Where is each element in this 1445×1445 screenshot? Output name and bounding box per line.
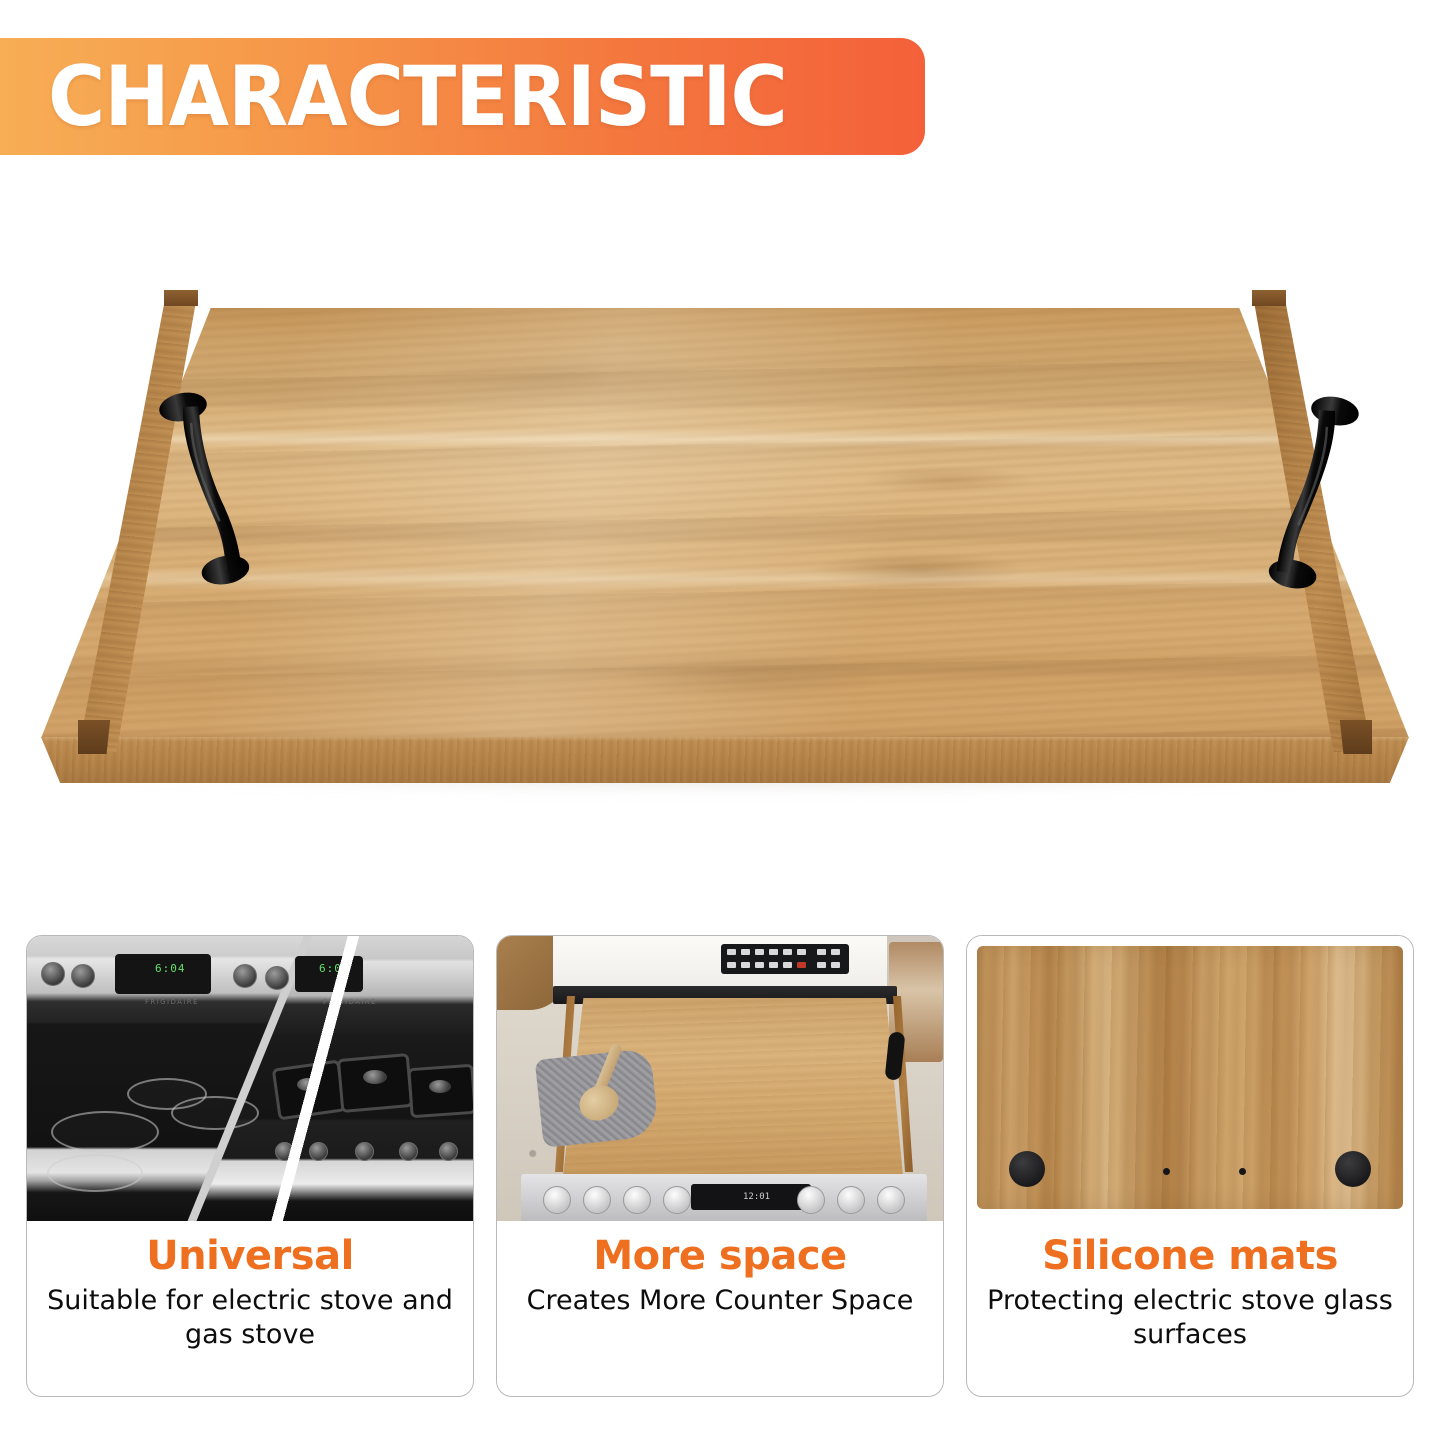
feature-card-more-space: 12:01 More space Creates More Counter Sp… <box>496 935 944 1397</box>
kitchen-stove-knob-4 <box>663 1186 691 1214</box>
tray-front-edge <box>41 737 1409 783</box>
electric-and-gas-stove-split-photo: 6:04 6:04 FRIGIDAIRE FRIGIDAIRE <box>27 936 473 1221</box>
hood-control-panel <box>721 944 849 974</box>
tray-underside-silicone-mats-photo <box>967 936 1413 1221</box>
kitchen-stove-knob-2 <box>583 1186 611 1214</box>
tray-underside-wood <box>977 946 1403 1209</box>
stove-clock-display: 12:01 <box>691 1184 811 1210</box>
feature-cards-row: 6:04 6:04 FRIGIDAIRE FRIGIDAIRE <box>0 930 1445 1410</box>
card-description-silicone-mats: Protecting electric stove glass surfaces <box>979 1284 1401 1352</box>
kitchen-scene: 12:01 <box>497 936 943 1221</box>
silicone-dot-center-left <box>1163 1168 1170 1175</box>
right-rail-top-cap <box>1252 290 1286 306</box>
stove-clock-value: 12:01 <box>743 1192 770 1202</box>
tray-on-stove-kitchen-photo: 12:01 <box>497 936 943 1221</box>
feature-card-silicone-mats: Silicone mats Protecting electric stove … <box>966 935 1414 1397</box>
kitchen-stove-knob-3 <box>623 1186 651 1214</box>
left-rail-top-cap <box>164 290 198 306</box>
card-title-more-space: More space <box>509 1235 931 1278</box>
feature-card-universal: 6:04 6:04 FRIGIDAIRE FRIGIDAIRE <box>26 935 474 1397</box>
stove-scene: 6:04 6:04 FRIGIDAIRE FRIGIDAIRE <box>27 936 473 1221</box>
diagonal-split-divider <box>27 936 473 1221</box>
hero-stage <box>30 290 1420 810</box>
characteristic-banner: CHARACTERISTIC <box>0 38 925 155</box>
hero-product-image <box>0 250 1445 850</box>
silicone-mat-bottom-left <box>1009 1151 1045 1187</box>
card-title-silicone-mats: Silicone mats <box>979 1235 1401 1278</box>
kitchen-stove-knob-7 <box>877 1186 905 1214</box>
kitchen-stove-knob-1 <box>543 1186 571 1214</box>
silicone-mat-bottom-right <box>1335 1151 1371 1187</box>
kitchen-stove-knob-6 <box>837 1186 865 1214</box>
card-description-more-space: Creates More Counter Space <box>509 1284 931 1318</box>
banner-title: CHARACTERISTIC <box>48 55 787 138</box>
card-caption-universal: Universal Suitable for electric stove an… <box>27 1221 473 1352</box>
card-description-universal: Suitable for electric stove and gas stov… <box>39 1284 461 1352</box>
stainless-stove-front: 12:01 <box>521 1174 927 1221</box>
card-caption-more-space: More space Creates More Counter Space <box>497 1221 943 1318</box>
range-hood <box>553 936 887 988</box>
card-caption-silicone-mats: Silicone mats Protecting electric stove … <box>967 1221 1413 1352</box>
card-title-universal: Universal <box>39 1235 461 1278</box>
kitchen-stove-knob-5 <box>797 1186 825 1214</box>
silicone-dot-center-right <box>1239 1168 1246 1175</box>
